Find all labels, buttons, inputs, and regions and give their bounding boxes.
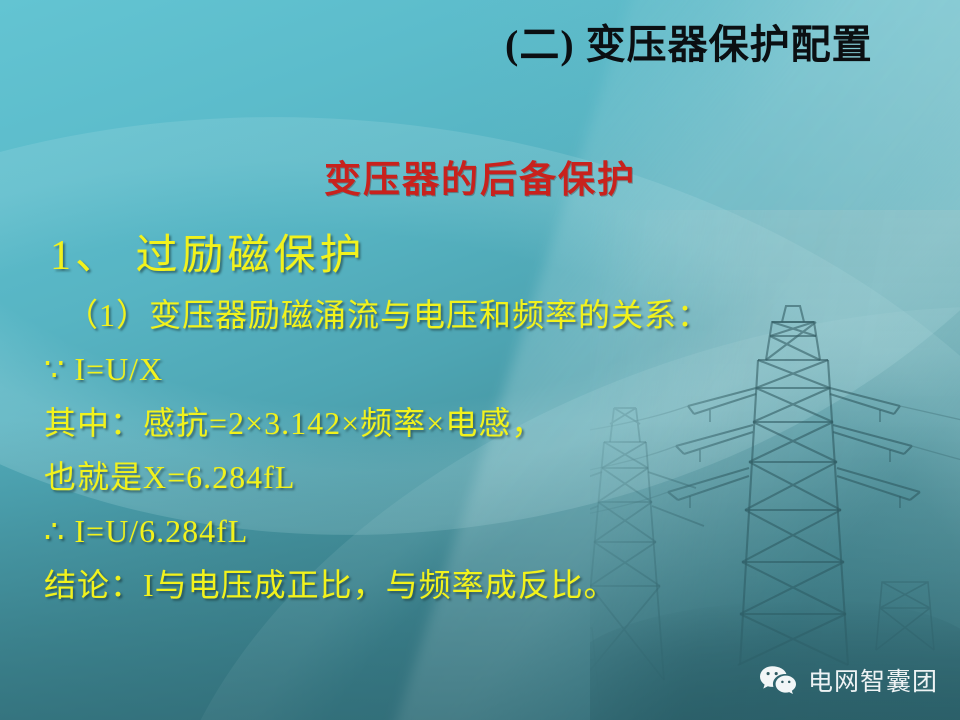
- body-line: ∴ I=U/6.284fL: [44, 504, 924, 558]
- body-line: （1）变压器励磁涌流与电压和频率的关系：: [44, 288, 924, 342]
- section-heading: 1、 过励磁保护: [50, 221, 366, 282]
- body-line: ∵ I=U/X: [44, 342, 924, 396]
- slide-canvas: (二) 变压器保护配置 变压器的后备保护 1、 过励磁保护 （1）变压器励磁涌流…: [0, 0, 960, 720]
- body-line: 结论：I与电压成正比，与频率成反比。: [44, 558, 924, 612]
- watermark-label: 电网智囊团: [808, 662, 938, 698]
- wechat-icon: [758, 664, 798, 696]
- watermark: 电网智囊团: [758, 662, 938, 698]
- slide-title: (二) 变压器保护配置: [505, 12, 925, 70]
- body-line: 其中：感抗=2×3.142×频率×电感，: [44, 396, 924, 450]
- slide-subtitle: 变压器的后备保护: [0, 149, 960, 203]
- body-content: （1）变压器励磁涌流与电压和频率的关系： ∵ I=U/X 其中：感抗=2×3.1…: [44, 288, 924, 612]
- body-line: 也就是X=6.284fL: [44, 450, 924, 504]
